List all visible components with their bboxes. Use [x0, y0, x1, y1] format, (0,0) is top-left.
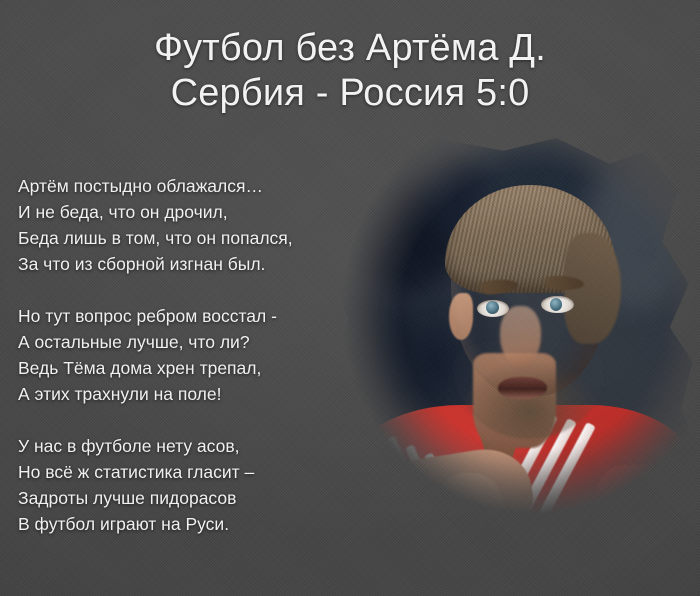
player-hand: [345, 465, 405, 525]
meme-title: Футбол без Артёма Д. Сербия - Россия 5:0: [0, 26, 700, 116]
poem-line: Задроты лучше пидорасов: [18, 485, 293, 511]
respect-patch-label: RES: [615, 515, 633, 524]
poem-stanza: Артём постыдно облажался… И не беда, что…: [18, 173, 293, 277]
title-line-1: Футбол без Артёма Д.: [0, 26, 700, 71]
player-hand: [435, 473, 503, 542]
poem-line: Артём постыдно облажался…: [18, 173, 293, 199]
poem-body: Артём постыдно облажался… И не беда, что…: [18, 173, 293, 537]
poem-line: А остальные лучше, что ли?: [18, 329, 293, 355]
poem-line: У нас в футболе нету асов,: [18, 433, 293, 459]
player-nose: [500, 306, 542, 366]
poem-line: В футбол играют на Руси.: [18, 511, 293, 537]
player-photo: RES RES: [322, 138, 700, 568]
respect-badge-icon: [561, 556, 571, 566]
poem-stanza: Но тут вопрос ребром восстал - А остальн…: [18, 303, 293, 407]
player-iris: [486, 301, 498, 314]
player-photo-cutout: RES RES: [322, 138, 700, 568]
uefa-badge-icon: [603, 515, 612, 524]
poem-line: А этих трахнули на поле!: [18, 381, 293, 407]
poem-line: Ведь Тёма дома хрен трепал,: [18, 355, 293, 381]
poem-line: Но всё ж статистика гласит –: [18, 459, 293, 485]
poem-line: И не беда, что он дрочил,: [18, 199, 293, 225]
poem-line: Беда лишь в том, что он попался,: [18, 225, 293, 251]
title-line-2: Сербия - Россия 5:0: [0, 71, 700, 116]
meme-image: RES RES Футбол без Артёма Д. Сербия - Ро…: [0, 0, 700, 596]
armband-label: RES: [573, 553, 594, 565]
poem-line: Но тут вопрос ребром восстал -: [18, 303, 293, 329]
poem-line: За что из сборной изгнан был.: [18, 251, 293, 277]
player-mouth: [498, 377, 547, 399]
poem-stanza: У нас в футболе нету асов, Но всё ж стат…: [18, 433, 293, 537]
